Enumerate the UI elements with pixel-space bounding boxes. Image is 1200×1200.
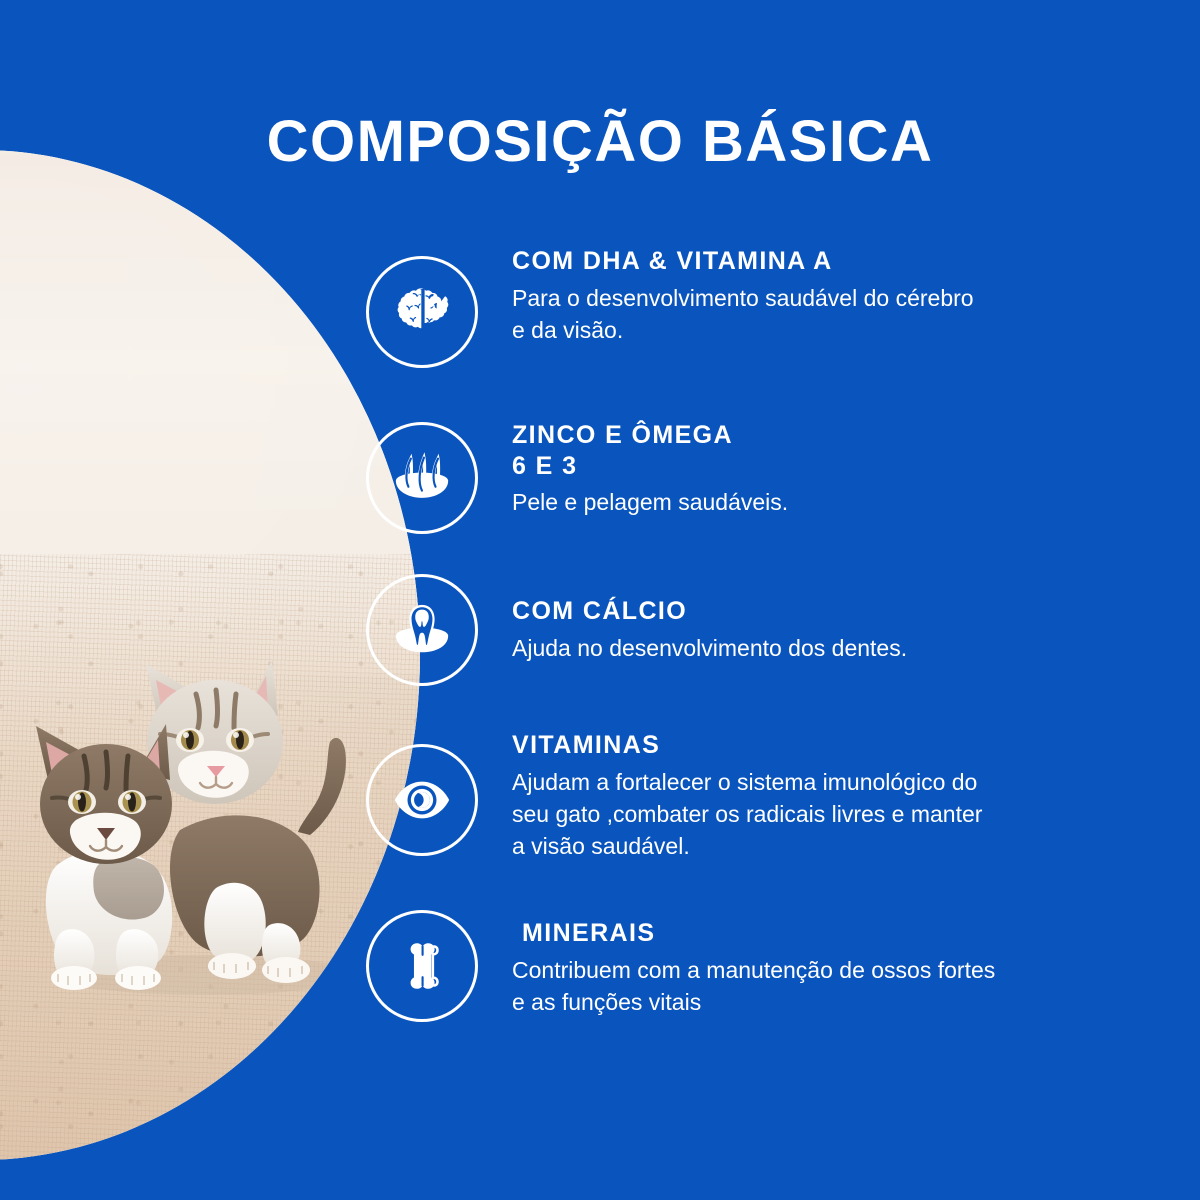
kitten-photo: [0, 150, 420, 1160]
tooth-icon: [366, 574, 478, 686]
feature-title: MINERAIS: [522, 918, 995, 949]
kittens-illustration: [10, 630, 400, 1000]
feature-title: ZINCO E ÔMEGA 6 E 3: [512, 420, 788, 481]
feature-text: COM CÁLCIO Ajuda no desenvolvimento dos …: [512, 580, 907, 664]
feature-item-zinco-omega[interactable]: ZINCO E ÔMEGA 6 E 3 Pele e pelagem saudá…: [366, 416, 1126, 534]
eye-icon: [366, 744, 478, 856]
feature-description: Ajuda no desenvolvimento dos dentes.: [512, 632, 907, 664]
feature-title: COM DHA & VITAMINA A: [512, 246, 974, 277]
feature-item-calcio[interactable]: COM CÁLCIO Ajuda no desenvolvimento dos …: [366, 580, 1126, 686]
page-title: COMPOSIÇÃO BÁSICA: [0, 112, 1200, 173]
poster-canvas: COMPOSIÇÃO BÁSICA COM DHA & VITAMINA A P…: [0, 0, 1200, 1200]
feature-item-vitaminas[interactable]: VITAMINAS Ajudam a fortalecer o sistema …: [366, 726, 1126, 862]
feature-text: VITAMINAS Ajudam a fortalecer o sistema …: [512, 726, 982, 862]
feature-text: MINERAIS Contribuem com a manutenção de …: [512, 904, 995, 1018]
bone-icon: [366, 910, 478, 1022]
feature-item-dha-vitamina-a[interactable]: COM DHA & VITAMINA A Para o desenvolvime…: [366, 242, 1126, 368]
feature-text: COM DHA & VITAMINA A Para o desenvolvime…: [512, 242, 974, 346]
feature-title: COM CÁLCIO: [512, 596, 907, 627]
feature-text: ZINCO E ÔMEGA 6 E 3 Pele e pelagem saudá…: [512, 416, 788, 518]
hair-follicle-icon: [366, 422, 478, 534]
feature-list: COM DHA & VITAMINA A Para o desenvolvime…: [366, 228, 1126, 1022]
feature-item-minerais[interactable]: MINERAIS Contribuem com a manutenção de …: [366, 904, 1126, 1022]
feature-description: Para o desenvolvimento saudável do céreb…: [512, 282, 974, 346]
feature-title: VITAMINAS: [512, 730, 982, 761]
brain-icon: [366, 256, 478, 368]
feature-description: Contribuem com a manutenção de ossos for…: [512, 954, 995, 1018]
feature-description: Ajudam a fortalecer o sistema imunológic…: [512, 766, 982, 863]
feature-description: Pele e pelagem saudáveis.: [512, 486, 788, 518]
